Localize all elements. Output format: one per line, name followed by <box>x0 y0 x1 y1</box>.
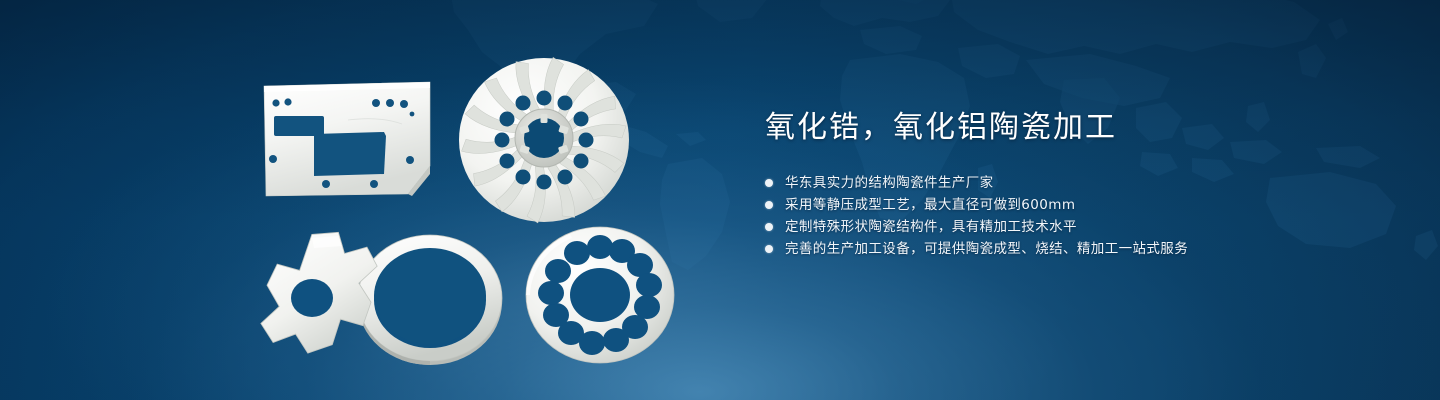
banner-title: 氧化锆，氧化铝陶瓷加工 <box>765 108 1385 148</box>
bullet-dot-icon <box>765 179 773 187</box>
list-item: 采用等静压成型工艺，最大直径可做到600mm <box>765 194 1385 216</box>
bullet-dot-icon <box>765 245 773 253</box>
feature-list: 华东具实力的结构陶瓷件生产厂家 采用等静压成型工艺，最大直径可做到600mm 定… <box>765 172 1385 260</box>
list-item: 完善的生产加工设备，可提供陶瓷成型、烧结、精加工一站式服务 <box>765 238 1385 260</box>
feature-text: 华东具实力的结构陶瓷件生产厂家 <box>785 172 994 194</box>
bullet-dot-icon <box>765 201 773 209</box>
banner-text-block: 氧化锆，氧化铝陶瓷加工 华东具实力的结构陶瓷件生产厂家 采用等静压成型工艺，最大… <box>765 108 1385 276</box>
feature-text: 完善的生产加工设备，可提供陶瓷成型、烧结、精加工一站式服务 <box>785 238 1188 260</box>
list-item: 定制特殊形状陶瓷结构件，具有精加工技术水平 <box>765 216 1385 238</box>
feature-text: 定制特殊形状陶瓷结构件，具有精加工技术水平 <box>785 216 1077 238</box>
bullet-dot-icon <box>765 223 773 231</box>
list-item: 华东具实力的结构陶瓷件生产厂家 <box>765 172 1385 194</box>
feature-text: 采用等静压成型工艺，最大直径可做到600mm <box>785 194 1075 216</box>
promo-banner: 氧化锆，氧化铝陶瓷加工 华东具实力的结构陶瓷件生产厂家 采用等静压成型工艺，最大… <box>0 0 1440 400</box>
